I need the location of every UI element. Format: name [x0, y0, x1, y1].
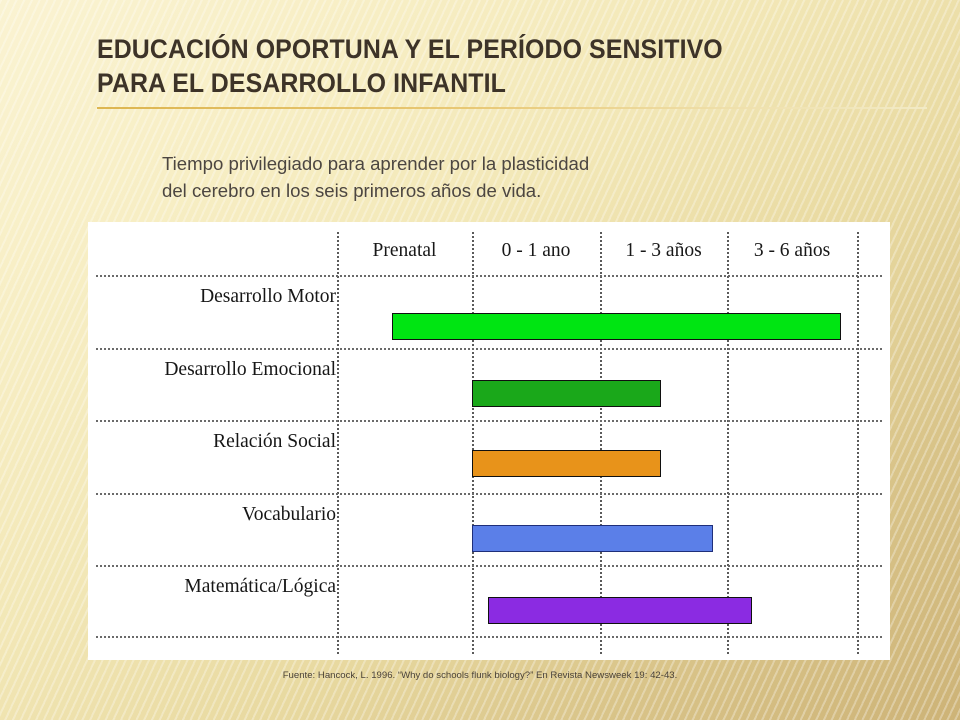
page-title: EDUCACIÓN OPORTUNA Y EL PERÍODO SENSITIV… — [97, 32, 849, 100]
column-header-prenatal: Prenatal — [337, 238, 472, 264]
bar-relacion-social — [472, 450, 661, 477]
page-title-line-2: PARA EL DESARROLLO INFANTIL — [97, 66, 849, 100]
bar-desarrollo-motor — [392, 313, 841, 340]
bar-vocabulario — [472, 525, 713, 552]
row-label-relacion-social: Relación Social — [213, 427, 336, 457]
column-divider-2 — [472, 232, 474, 654]
column-header-1-3-anos: 1 - 3 años — [600, 238, 727, 264]
chart-panel: Prenatal 0 - 1 ano 1 - 3 años 3 - 6 años… — [88, 222, 890, 660]
column-header-3-6-anos: 3 - 6 años — [727, 238, 857, 264]
row-separator-header — [96, 275, 882, 277]
row-separator-5 — [96, 636, 882, 638]
subtitle-line-1: Tiempo privilegiado para aprender por la… — [162, 150, 782, 177]
bar-desarrollo-emocional — [472, 380, 661, 407]
row-label-desarrollo-motor: Desarrollo Motor — [200, 282, 336, 312]
subtitle-text: Tiempo privilegiado para aprender por la… — [162, 150, 782, 204]
chart-plot-area: Prenatal 0 - 1 ano 1 - 3 años 3 - 6 años… — [88, 222, 890, 660]
row-label-vocabulario: Vocabulario — [242, 500, 336, 530]
row-separator-3 — [96, 493, 882, 495]
page-title-line-1: EDUCACIÓN OPORTUNA Y EL PERÍODO SENSITIV… — [97, 32, 849, 66]
row-label-desarrollo-emocional: Desarrollo Emocional — [164, 355, 336, 385]
subtitle-line-2: del cerebro en los seis primeros años de… — [162, 177, 782, 204]
column-divider-4 — [727, 232, 729, 654]
bar-matematica-logica — [488, 597, 752, 624]
title-divider-rule — [97, 107, 927, 109]
column-header-0-1-ano: 0 - 1 ano — [472, 238, 600, 264]
source-citation: Fuente: Hancock, L. 1996. “Why do school… — [0, 670, 960, 681]
row-label-matematica-logica: Matemática/Lógica — [184, 572, 336, 602]
row-separator-2 — [96, 420, 882, 422]
column-divider-3 — [600, 232, 602, 654]
column-divider-1 — [337, 232, 339, 654]
row-separator-4 — [96, 565, 882, 567]
column-divider-5 — [857, 232, 859, 654]
row-separator-1 — [96, 348, 882, 350]
